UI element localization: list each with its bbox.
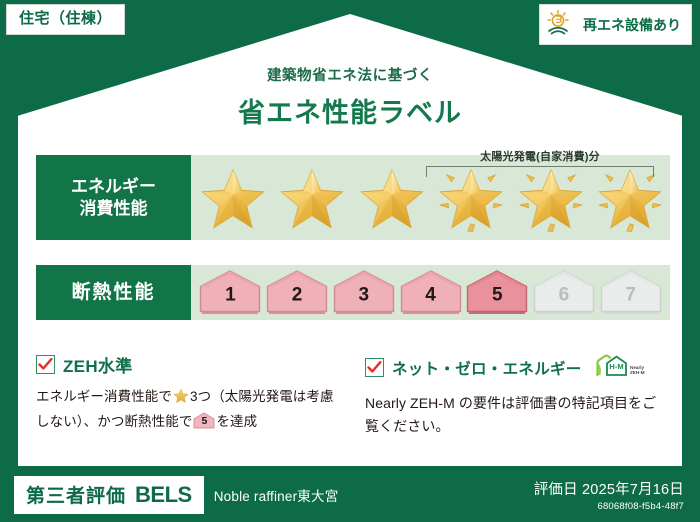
sun-renewable-icon [546, 9, 576, 40]
zeh-standard-description: エネルギー消費性能で 3つ（太陽光発電は考慮しない）、かつ断熱性能で 5 を達成 [36, 386, 336, 436]
house-glyph [466, 270, 528, 316]
energy-label-line2: 消費性能 [80, 198, 148, 219]
evaluation-info: 評価日 2025年7月16日 68068f08-f5b4-48f7 [534, 478, 684, 512]
bels-jp-label: 第三者評価 [26, 481, 126, 508]
insulation-level-7: 7 [597, 270, 664, 316]
star-icon [173, 388, 189, 411]
check-icon [367, 360, 382, 375]
title-block: 建築物省エネ法に基づく 省エネ性能ラベル [0, 64, 700, 130]
evaluation-id: 68068f08-f5b4-48f7 [534, 501, 684, 512]
check-icon [38, 357, 53, 372]
net-zero-energy-header: ネット・ゼロ・エネルギー H-M Nearly ZEH-M [365, 352, 665, 383]
zeh-standard-title: ZEH水準 [63, 352, 133, 377]
energy-performance-label: エネルギー 消費性能 [36, 155, 191, 240]
star-3 [352, 155, 432, 240]
house-level-icon: 5 [193, 412, 215, 436]
net-zero-energy-block: ネット・ゼロ・エネルギー H-M Nearly ZEH-M Nearly ZEH… [365, 352, 665, 437]
label-main-title: 省エネ性能ラベル [0, 91, 700, 130]
house-type-tag: 住宅（住棟） [6, 4, 125, 35]
zeh-standard-block: ZEH水準 エネルギー消費性能で 3つ（太陽光発電は考慮しない）、かつ断熱性能で… [36, 352, 336, 436]
star-glyph [274, 161, 350, 235]
bels-en-label: BELS [135, 482, 192, 508]
building-name: Noble raffiner東大宮 [214, 485, 339, 505]
net-zero-energy-description: Nearly ZEH-M の要件は評価書の特記項目をご覧ください。 [365, 392, 665, 437]
house-glyph [333, 270, 395, 316]
nearly-zeh-m-logo: H-M Nearly ZEH-M [594, 352, 648, 383]
solar-annotation-text: 太陽光発電(自家消費)分 [426, 148, 654, 164]
solar-annotation: 太陽光発電(自家消費)分 [426, 148, 654, 177]
net-zero-energy-checkbox[interactable] [365, 358, 384, 377]
house-glyph [600, 270, 662, 316]
insulation-performance-row: 断熱性能 1 2 3 [36, 265, 670, 320]
footer-bar: 第三者評価 BELS Noble raffiner東大宮 評価日 2025年7月… [0, 468, 700, 522]
bels-certification-box: 第三者評価 BELS [14, 476, 204, 514]
insulation-level-scale: 1 2 3 4 5 [191, 265, 670, 320]
house-glyph [199, 270, 261, 316]
house-glyph [266, 270, 328, 316]
house-level-icon-value: 5 [193, 412, 215, 429]
insulation-label-text: 断熱性能 [71, 281, 155, 305]
solar-annotation-bracket [426, 166, 654, 177]
house-glyph [533, 270, 595, 316]
zeh-desc-part3: を達成 [216, 414, 257, 429]
energy-label-line1: エネルギー [71, 176, 156, 197]
net-zero-energy-title: ネット・ゼロ・エネルギー [392, 357, 582, 379]
nearly-zeh-m-logo-sub2: ZEH-M [630, 370, 645, 375]
zeh-standard-header: ZEH水準 [36, 352, 336, 377]
star-glyph [354, 161, 430, 235]
insulation-level-4: 4 [397, 270, 464, 316]
nearly-zeh-m-logo-mark: H-M [609, 362, 623, 371]
zeh-standard-checkbox[interactable] [36, 355, 55, 374]
label-subtitle: 建築物省エネ法に基づく [0, 64, 700, 85]
zeh-desc-part1: エネルギー消費性能で [36, 389, 172, 404]
insulation-level-6: 6 [531, 270, 598, 316]
house-type-tag-label: 住宅（住棟） [19, 10, 112, 27]
insulation-level-3: 3 [330, 270, 397, 316]
house-glyph [400, 270, 462, 316]
renewable-badge-label: 再エネ設備あり [583, 18, 681, 32]
insulation-performance-body: 1 2 3 4 5 [191, 265, 670, 320]
insulation-performance-label: 断熱性能 [36, 265, 191, 320]
insulation-level-2: 2 [264, 270, 331, 316]
renewable-equipment-badge: 再エネ設備あり [539, 4, 692, 45]
star-1 [193, 155, 273, 240]
star-2 [273, 155, 353, 240]
label-board: パス交 住宅（住棟） 再エネ設備あり 建築物省エネ法に基 [0, 0, 700, 522]
insulation-level-1: 1 [197, 270, 264, 316]
insulation-level-5: 5 [464, 270, 531, 316]
evaluation-date: 評価日 2025年7月16日 [534, 478, 684, 499]
star-glyph [195, 161, 271, 235]
